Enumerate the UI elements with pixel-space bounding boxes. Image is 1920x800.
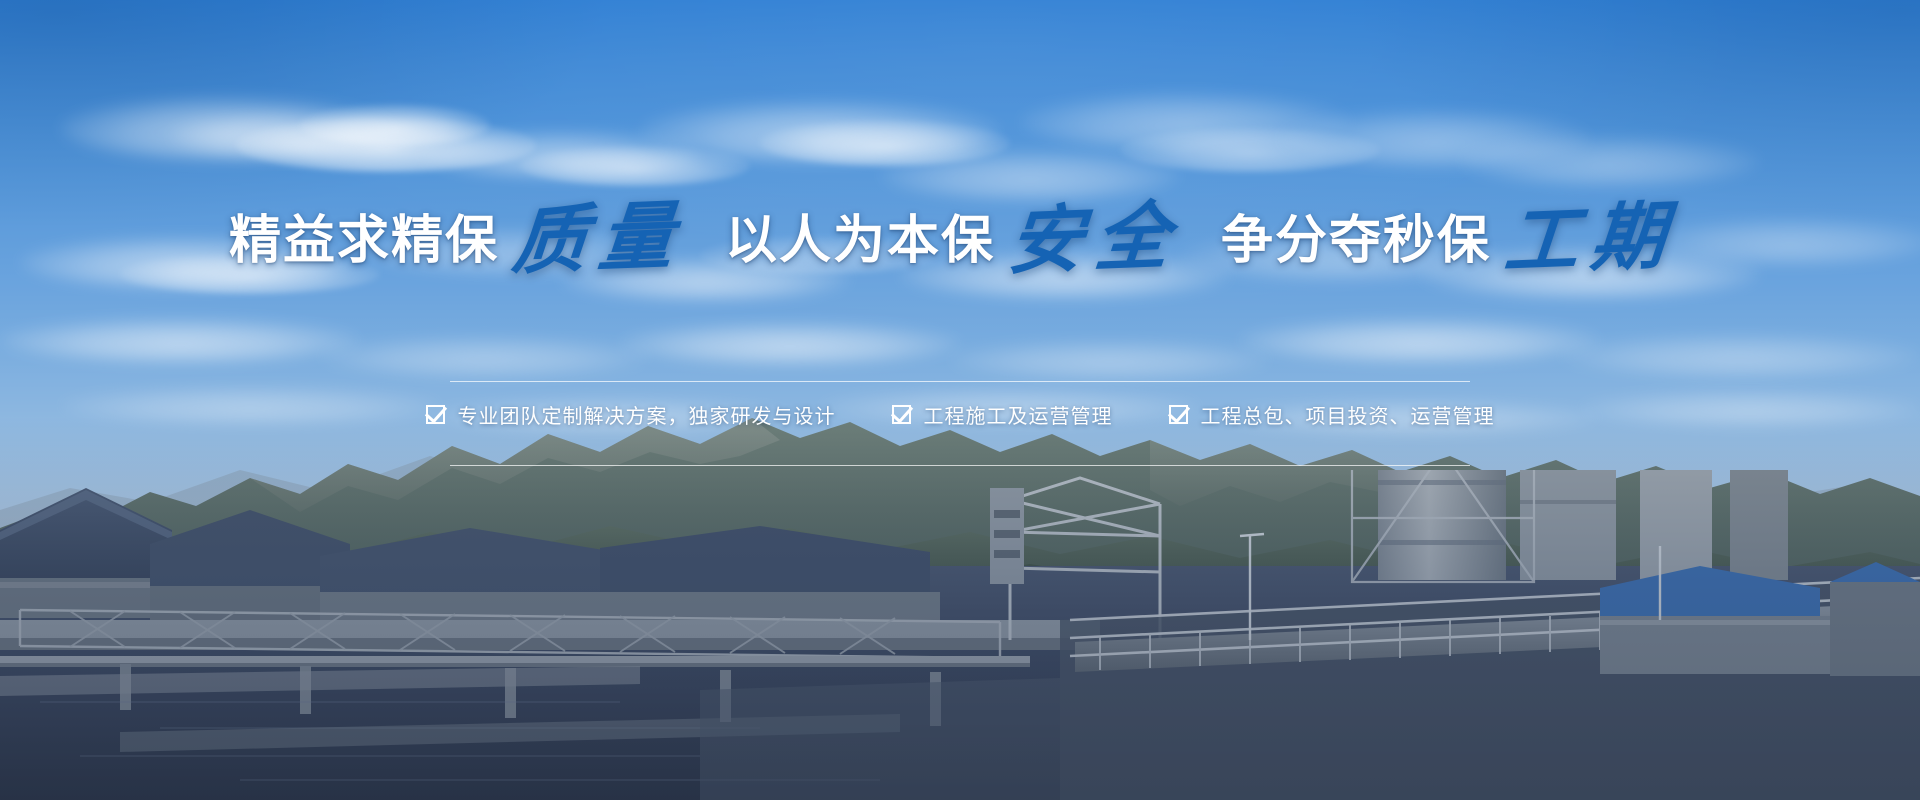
headline-segment-6-calligraphy: 工期: [1487, 198, 1694, 280]
feature-item-3-label: 工程总包、项目投资、运营管理: [1201, 400, 1495, 429]
banner-content: 精益求精保质量以人为本保安全争分夺秒保工期 专业团队定制解决方案，独家研发与设计…: [0, 0, 1920, 800]
checkbox-checked-icon: [426, 405, 445, 424]
checkbox-checked-icon: [1169, 405, 1188, 424]
divider-bottom: [450, 465, 1470, 466]
divider-top: [450, 381, 1470, 382]
feature-item-3: 工程总包、项目投资、运营管理: [1169, 400, 1495, 429]
feature-item-2-label: 工程施工及运营管理: [924, 400, 1113, 429]
feature-item-1: 专业团队定制解决方案，独家研发与设计: [426, 400, 836, 429]
headline: 精益求精保质量以人为本保安全争分夺秒保工期: [0, 196, 1920, 270]
hero-banner: 精益求精保质量以人为本保安全争分夺秒保工期 专业团队定制解决方案，独家研发与设计…: [0, 0, 1920, 800]
feature-item-2: 工程施工及运营管理: [892, 400, 1113, 429]
headline-segment-3: 以人为本保: [725, 215, 995, 267]
feature-list: 专业团队定制解决方案，独家研发与设计 工程施工及运营管理 工程总包、项目投资、运…: [0, 400, 1920, 429]
headline-segment-5: 争分夺秒保: [1221, 215, 1491, 267]
checkbox-checked-icon: [892, 405, 911, 424]
feature-item-1-label: 专业团队定制解决方案，独家研发与设计: [458, 400, 836, 429]
headline-segment-2-calligraphy: 质量: [495, 198, 702, 280]
headline-segment-4-calligraphy: 安全: [991, 198, 1198, 280]
headline-segment-1: 精益求精保: [229, 215, 499, 267]
